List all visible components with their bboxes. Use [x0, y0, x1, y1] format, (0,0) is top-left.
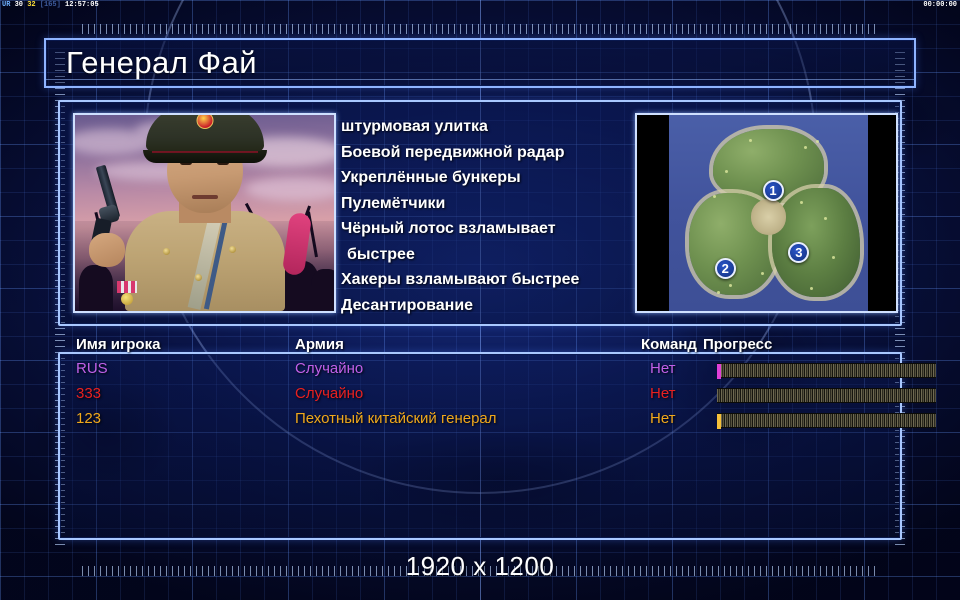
ability-item: Десантирование	[341, 293, 633, 317]
resolution-label: 1920 x 1200	[0, 551, 960, 582]
osd-left-group: UR 30 32 [165] 12:57:05	[2, 0, 99, 11]
progress-marker	[717, 364, 721, 379]
landmass-southeast	[772, 188, 860, 298]
roster-row[interactable]: RUSСлучайноНет	[58, 360, 902, 385]
soldier-silhouette	[311, 269, 336, 311]
player-progress-bar	[717, 363, 936, 378]
soldier-silhouette	[79, 265, 113, 311]
ability-item: Чёрный лотос взламывает	[341, 216, 633, 242]
player-army[interactable]: Пехотный китайский генерал	[295, 410, 497, 427]
uniform-button	[195, 274, 202, 281]
ability-item: Хакеры взламывают быстрее	[341, 267, 633, 293]
player-progress-bar	[717, 413, 936, 428]
osd-bar: UR 30 32 [165] 12:57:05 00:00:00	[0, 0, 960, 11]
general-portrait	[73, 113, 336, 313]
general-abilities-list: штурмовая улиткаБоевой передвижной радар…	[341, 112, 633, 316]
uniform-button	[229, 246, 236, 253]
column-header-army: Армия	[295, 336, 344, 353]
osd-value-1: 30	[15, 1, 23, 9]
map-preview: 123	[635, 113, 898, 313]
uniform-button	[163, 248, 170, 255]
player-team[interactable]: Нет	[650, 360, 676, 377]
general-mouth	[192, 195, 218, 199]
ability-item: Пулемётчики	[341, 191, 633, 217]
column-header-progress: Прогресс	[703, 336, 772, 353]
ability-item: штурмовая улитка	[341, 114, 633, 140]
start-position-marker[interactable]: 2	[715, 258, 736, 279]
osd-value-2: 32	[27, 1, 35, 9]
title-underline	[46, 79, 914, 80]
ability-item: Укреплённые бункеры	[341, 165, 633, 191]
general-hand	[89, 233, 125, 267]
ability-item: быстрее	[341, 242, 633, 268]
frame-ruler-top	[82, 24, 878, 34]
player-army[interactable]: Случайно	[295, 385, 363, 402]
minimap-image: 123	[669, 115, 868, 311]
general-medal-ribbon	[117, 281, 137, 293]
player-progress-bar	[717, 388, 936, 403]
player-team[interactable]: Нет	[650, 410, 676, 427]
roster-row[interactable]: 333СлучайноНет	[58, 385, 902, 410]
general-medal	[121, 293, 133, 305]
column-header-player-name: Имя игрока	[76, 336, 160, 353]
cloud-shape	[245, 177, 336, 201]
osd-timer: 00:00:00	[923, 0, 957, 11]
title-panel: Генерал Фай	[44, 38, 916, 88]
osd-value-3: [165]	[40, 1, 61, 9]
ability-item: Боевой передвижной радар	[341, 140, 633, 166]
player-name: 333	[76, 385, 101, 402]
player-name: RUS	[76, 360, 108, 377]
column-header-team: Команд	[641, 336, 697, 353]
player-name: 123	[76, 410, 101, 427]
progress-marker	[717, 414, 721, 429]
start-position-marker[interactable]: 1	[763, 180, 784, 201]
landmass-center	[751, 199, 787, 234]
page-title: Генерал Фай	[66, 45, 257, 81]
player-army[interactable]: Случайно	[295, 360, 363, 377]
roster-rows: RUSСлучайноНет333СлучайноНет123Пехотный …	[58, 360, 902, 440]
roster-row[interactable]: 123Пехотный китайский генералНет	[58, 410, 902, 435]
osd-label: UR	[2, 1, 10, 9]
roster-header-row: Имя игрока Армия Команд Прогресс	[58, 336, 902, 356]
player-team[interactable]: Нет	[650, 385, 676, 402]
osd-clock: 12:57:05	[65, 1, 99, 9]
